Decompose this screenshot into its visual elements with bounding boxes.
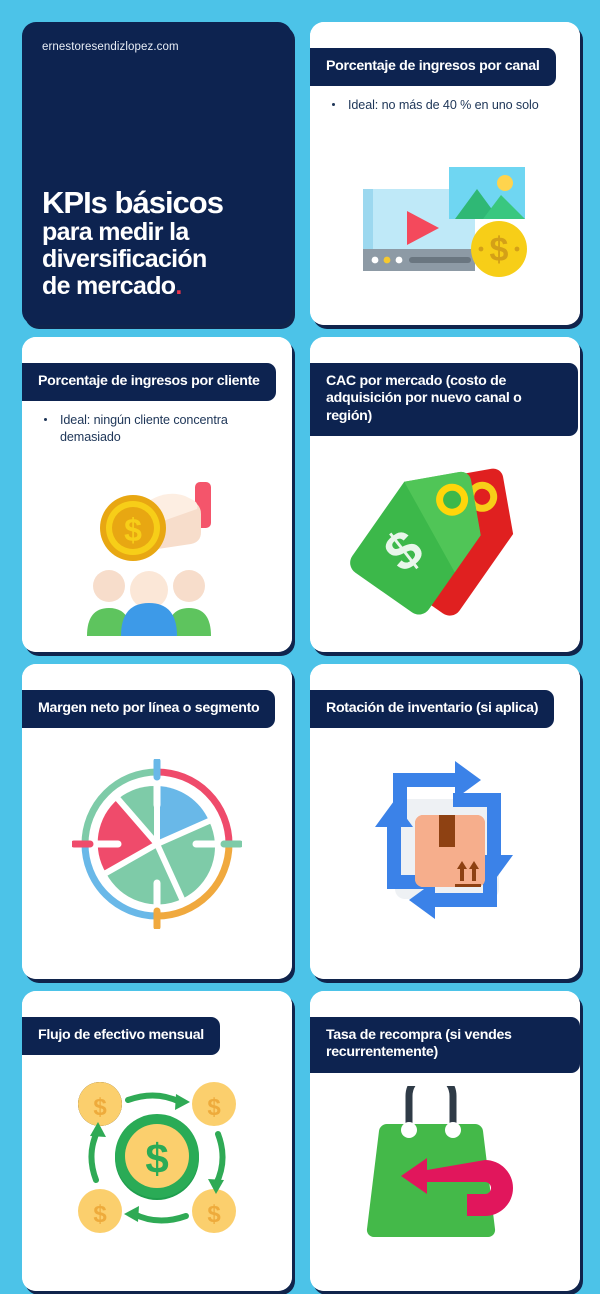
cash-flow-coins-icon: $ $ $ $ — [22, 1077, 292, 1237]
card-title-badge: CAC por mercado (costo de adquisición po… — [310, 363, 578, 436]
card-porcentaje-ingresos-cliente: Porcentaje de ingresos por cliente Ideal… — [22, 337, 292, 652]
card-title-badge: Flujo de efectivo mensual — [22, 1017, 220, 1055]
title-line-4: de mercado. — [42, 273, 278, 300]
title-period: . — [175, 272, 181, 300]
card-title-badge: Margen neto por línea o segmento — [22, 690, 275, 728]
target-pie-chart-icon — [22, 756, 292, 931]
card-title-badge: Porcentaje de ingresos por canal — [310, 48, 556, 86]
title-line-2: para medir la — [42, 219, 278, 246]
hero-card: ernestoresendizlopez.com KPIs básicos pa… — [22, 22, 292, 325]
card-tasa-recompra: Tasa de recompra (si vendes recurrenteme… — [310, 991, 580, 1291]
card-title-badge: Tasa de recompra (si vendes recurrenteme… — [310, 1017, 580, 1073]
card-bullet-list: Ideal: no más de 40 % en uno solo — [326, 97, 564, 114]
box-recycle-arrows-icon — [310, 754, 580, 934]
cards-grid: ernestoresendizlopez.com KPIs básicos pa… — [22, 22, 578, 1291]
card-bullet-list: Ideal: ningún cliente concentra demasiad… — [38, 412, 276, 445]
title-line-1: KPIs básicos — [42, 186, 278, 219]
card-margen-neto: Margen neto por línea o segmento — [22, 664, 292, 979]
video-player-money-icon: $ — [310, 160, 580, 290]
svg-text:$: $ — [124, 512, 142, 548]
svg-text:$: $ — [145, 1135, 168, 1182]
card-porcentaje-ingresos-canal: Porcentaje de ingresos por canal Ideal: … — [310, 22, 580, 325]
list-item: Ideal: no más de 40 % en uno solo — [326, 97, 564, 114]
svg-text:$: $ — [207, 1201, 221, 1228]
svg-text:$: $ — [207, 1094, 221, 1121]
svg-text:$: $ — [93, 1201, 107, 1228]
page-title: KPIs básicos para medir la diversificaci… — [42, 186, 278, 300]
shopping-bag-return-icon — [310, 1083, 580, 1243]
title-line-3: diversificación — [42, 246, 278, 273]
hand-coin-customers-icon: $ — [22, 467, 292, 637]
card-title-badge: Porcentaje de ingresos por cliente — [22, 363, 276, 401]
card-flujo-efectivo: Flujo de efectivo mensual $ $ — [22, 991, 292, 1291]
svg-text:$: $ — [93, 1094, 107, 1121]
card-rotacion-inventario: Rotación de inventario (si aplica) — [310, 664, 580, 979]
infographic-page: ernestoresendizlopez.com KPIs básicos pa… — [0, 0, 600, 1294]
card-cac-por-mercado: CAC por mercado (costo de adquisición po… — [310, 337, 580, 652]
card-title-badge: Rotación de inventario (si aplica) — [310, 690, 554, 728]
list-item: Ideal: ningún cliente concentra demasiad… — [38, 412, 276, 445]
svg-text:$: $ — [490, 231, 509, 269]
website-url: ernestoresendizlopez.com — [42, 41, 179, 53]
price-tags-dollar-icon: $ — [310, 457, 580, 632]
